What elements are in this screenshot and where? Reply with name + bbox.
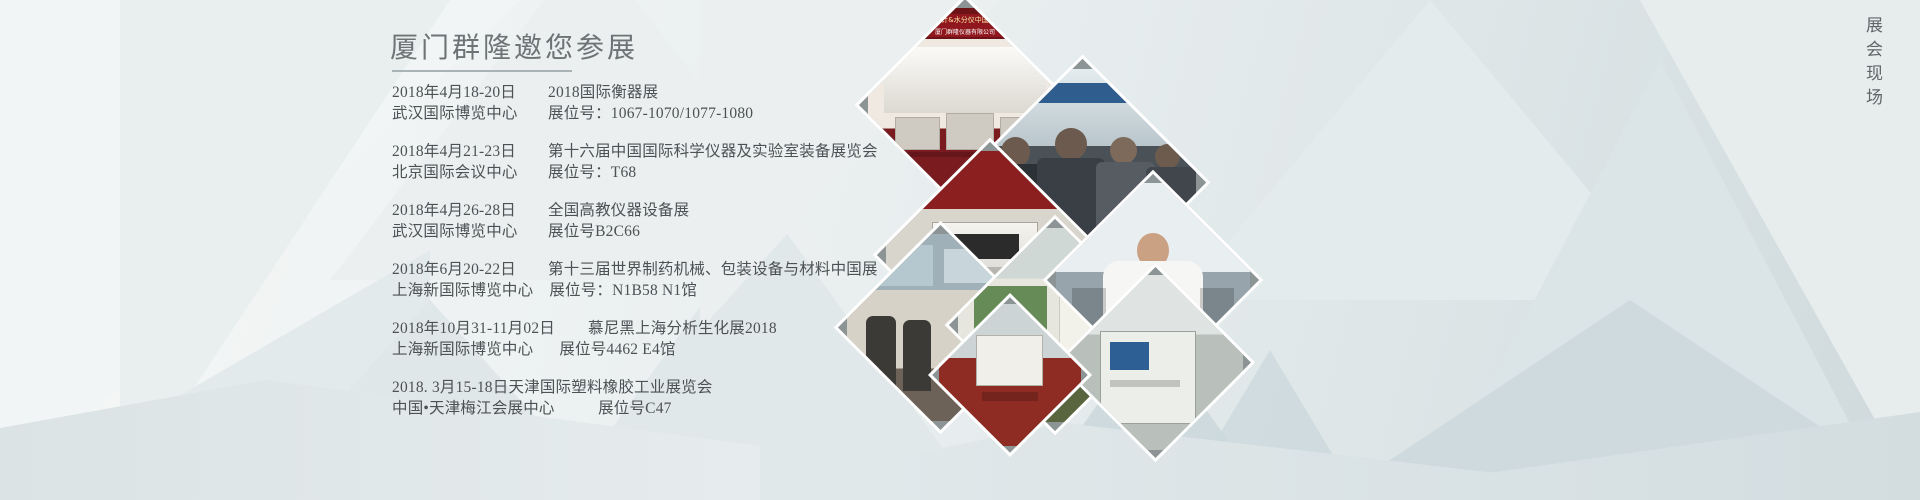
- event-name: 全国高教仪器设备展: [532, 200, 689, 221]
- event-date: 2018年4月18-20日: [392, 82, 532, 103]
- event-date: 2018年6月20-22日: [392, 259, 532, 280]
- event-booth: 展位号：N1B58 N1馆: [533, 280, 697, 301]
- event-venue: 中国•天津梅江会展中心: [392, 398, 578, 419]
- title-underline: [392, 70, 572, 72]
- banner-stage: 厦门群隆邀您参展 2018年4月18-20日 2018国际衡器展 武汉国际博览中…: [0, 0, 1920, 500]
- event-name: 慕尼黑上海分析生化展2018: [572, 318, 777, 339]
- event-venue: 北京国际会议中心: [392, 162, 532, 183]
- booth-banner-caption-line2: 厦门群隆仪器有限公司: [880, 27, 1051, 36]
- event-booth: 展位号：T68: [532, 162, 636, 183]
- event-venue: 上海新国际博览中心: [392, 339, 533, 360]
- event-date: 2018年10月31-11月02日: [392, 318, 572, 339]
- event-venue: 武汉国际博览中心: [392, 221, 532, 242]
- event-venue: 上海新国际博览中心: [392, 280, 533, 301]
- collage-caption: 展会现场: [1860, 16, 1885, 112]
- event-booth: 展位号4462 E4馆: [533, 339, 675, 360]
- event-name: 第十三届世界制药机械、包装设备与材料中国展: [532, 259, 878, 280]
- event-venue: 武汉国际博览中心: [392, 103, 532, 124]
- event-date: 2018年4月26-28日: [392, 200, 532, 221]
- event-name: 第十六届中国国际科学仪器及实验室装备展览会: [532, 141, 878, 162]
- page-title: 厦门群隆邀您参展: [390, 26, 638, 66]
- event-date: 2018年4月21-23日: [392, 141, 532, 162]
- event-name: 2018国际衡器展: [532, 82, 658, 103]
- event-booth: 展位号：1067-1070/1077-1080: [532, 103, 753, 124]
- event-booth: 展位号C47: [582, 400, 672, 417]
- photo-collage: 展会现场 密度计&水分仪中国制造 厦门群隆仪器有限公司: [840, 0, 1920, 500]
- event-booth: 展位号B2C66: [532, 221, 640, 242]
